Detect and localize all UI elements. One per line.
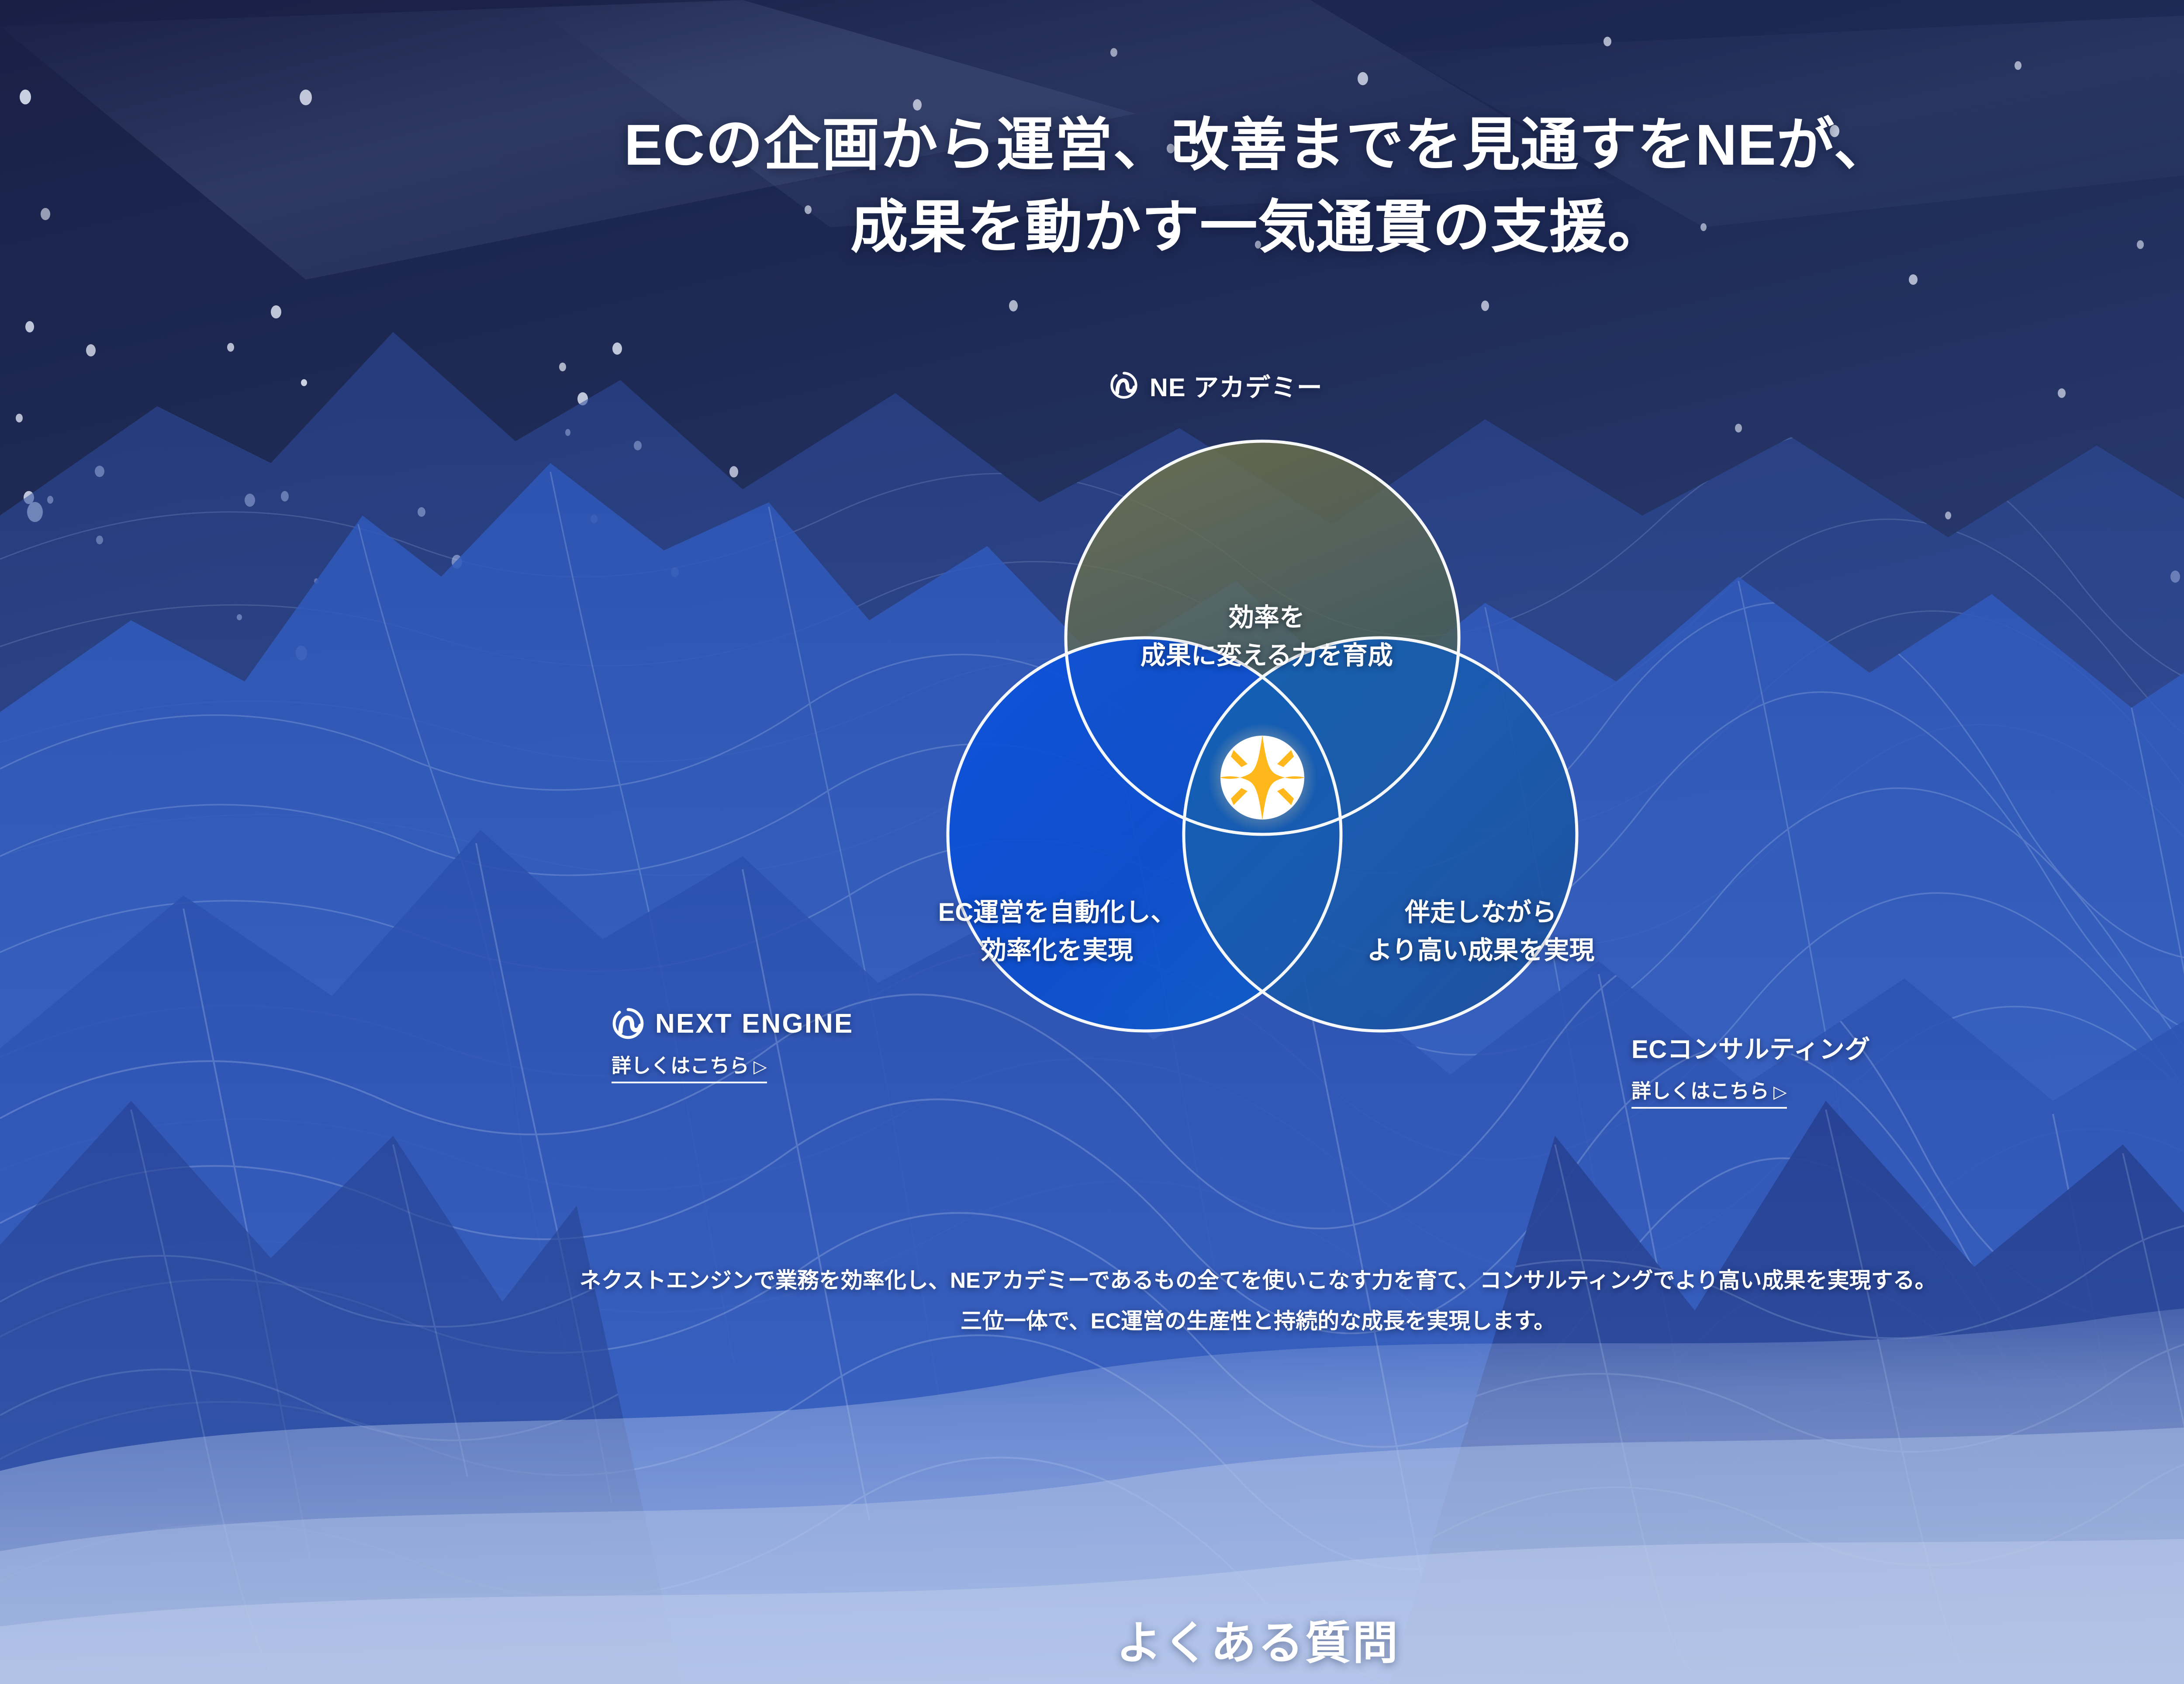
ne-logo-icon	[612, 1007, 645, 1040]
brand-ne-academy[interactable]: NE アカデミー	[1109, 367, 1323, 404]
brand-next-engine[interactable]: NEXT ENGINE 詳しくはこちら▷	[612, 1007, 854, 1083]
headline-line-2: 成果を動かす一気通貫の支援。	[0, 186, 2184, 268]
brand-next-engine-label: NEXT ENGINE	[655, 1008, 854, 1039]
ec-consulting-more-link[interactable]: 詳しくはこちら▷	[1631, 1075, 1787, 1109]
brand-ec-consulting[interactable]: ECコンサルティング 詳しくはこちら▷	[1631, 1029, 1870, 1109]
ne-logo-icon	[1109, 371, 1138, 400]
ec-consulting-more-label: 詳しくはこちら	[1631, 1080, 1769, 1102]
caption-line-1: ネクストエンジンで業務を効率化し、NEアカデミーであるもの全てを使いこなす力を育…	[0, 1260, 2184, 1301]
venn-caption: ネクストエンジンで業務を効率化し、NEアカデミーであるもの全てを使いこなす力を育…	[0, 1260, 2184, 1341]
headline-line-1: ECの企画から運営、改善までを見通すをNEが、	[0, 104, 2184, 186]
play-triangle-icon: ▷	[1773, 1082, 1787, 1102]
page-headline: ECの企画から運営、改善までを見通すをNEが、 成果を動かす一気通貫の支援。	[0, 104, 2184, 268]
brand-ec-consulting-label: ECコンサルティング	[1631, 1029, 1870, 1065]
next-engine-more-link[interactable]: 詳しくはこちら▷	[612, 1050, 767, 1083]
brand-ne-academy-label: NE アカデミー	[1150, 367, 1323, 404]
play-triangle-icon: ▷	[753, 1057, 767, 1076]
next-engine-more-label: 詳しくはこちら	[612, 1055, 749, 1077]
faq-section-heading: よくある質問	[0, 1606, 2184, 1672]
caption-line-2: 三位一体で、EC運営の生産性と持続的な成長を実現します。	[0, 1301, 2184, 1342]
